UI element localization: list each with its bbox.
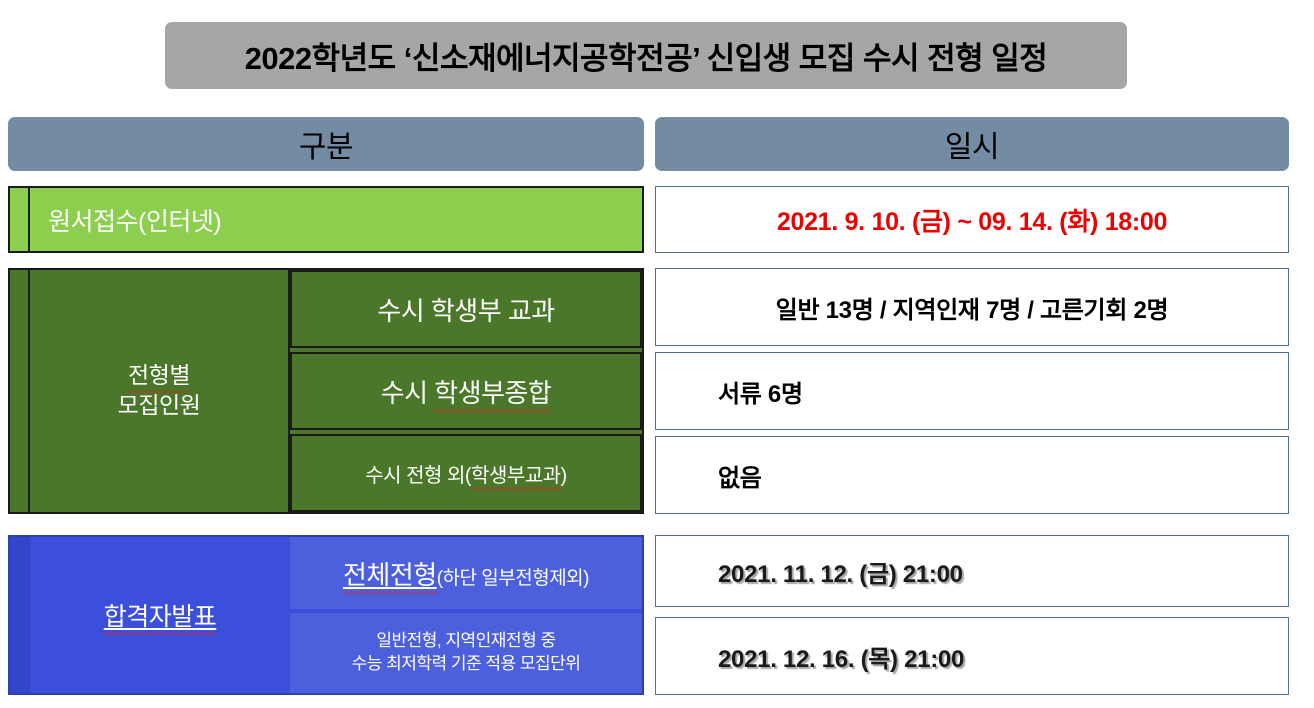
subrow-label-susi-jonghap-text: 수시 수시 학생부종합학생부종합 <box>381 373 552 410</box>
subrow-label-all-types: 전체전형(하단 일부전형제외) <box>290 537 642 609</box>
row-label-quota-line1: 전형별 <box>128 361 190 391</box>
value-quota-gyogwa-text: 일반 13명 / 지역인재 7명 / 고른기회 2명 <box>776 290 1169 325</box>
table-row-quota: 전형별 모집인원 수시 학생부 교과 수시 수시 학생부종합학생부종합 수시 전… <box>8 268 644 514</box>
row-label-quota-line2: 모집인원 <box>118 392 201 418</box>
value-announcement-partial-text: 2021. 12. 16. (목) 21:00 <box>718 639 964 674</box>
value-quota-gyogwa: 일반 13명 / 지역인재 7명 / 고른기회 2명 <box>655 268 1289 346</box>
row-label-quota: 전형별 모집인원 <box>30 270 290 512</box>
subrow-label-susi-gyogwa-text: 수시 학생부 교과 <box>377 291 554 328</box>
value-announcement-all-text: 2021. 11. 12. (금) 21:00 <box>718 554 963 589</box>
column-header-datetime-label: 일시 <box>945 122 999 166</box>
column-header-category: 구분 <box>8 117 644 171</box>
subrow-label-susi-oe: 수시 전형 외(학생부교과) <box>290 434 642 512</box>
row-accent-strip <box>10 537 30 693</box>
value-quota-oe: 없음 <box>655 436 1289 514</box>
row-accent-strip <box>10 188 30 251</box>
announcement-subrow-group: 전체전형(하단 일부전형제외) 일반전형, 지역인재전형 중 수능 최저학력 기… <box>290 537 642 693</box>
row-label-announcement: 합격자발표 <box>30 537 290 693</box>
subrow-label-partial-types: 일반전형, 지역인재전형 중 수능 최저학력 기준 적용 모집단위 <box>290 613 642 693</box>
value-quota-jonghap: 서류 6명 <box>655 352 1289 430</box>
subrow-oe-marked: 학생부교과 <box>471 459 561 488</box>
subrow-label-susi-gyogwa: 수시 학생부 교과 <box>290 270 642 348</box>
column-header-category-label: 구분 <box>299 122 353 166</box>
table-row-announcement: 합격자발표 전체전형(하단 일부전형제외) 일반전형, 지역인재전형 중 수능 … <box>8 535 644 695</box>
title-banner: 2022학년도 ‘신소재에너지공학전공’ 신입생 모집 수시 전형 일정 <box>165 22 1127 89</box>
subrow-all-types-paren: (하단 일부전형제외) <box>437 568 589 589</box>
quota-subrow-group: 수시 학생부 교과 수시 수시 학생부종합학생부종합 수시 전형 외(학생부교과… <box>290 270 642 512</box>
page-title: 2022학년도 ‘신소재에너지공학전공’ 신입생 모집 수시 전형 일정 <box>245 33 1048 78</box>
column-header-datetime: 일시 <box>655 117 1289 171</box>
subrow-label-susi-oe-text: 수시 전형 외(학생부교과) <box>365 459 566 488</box>
subrow-all-types-main: 전체전형 <box>343 555 437 592</box>
row-accent-strip <box>10 270 30 512</box>
value-announcement-partial: 2021. 12. 16. (목) 21:00 <box>655 617 1289 695</box>
subrow-partial-line1: 일반전형, 지역인재전형 중 <box>376 631 555 650</box>
value-quota-jonghap-text: 서류 6명 <box>718 374 803 409</box>
value-quota-oe-text: 없음 <box>718 458 762 493</box>
row-label-application: 원서접수(인터넷) <box>30 188 642 251</box>
subrow-label-susi-jonghap: 수시 수시 학생부종합학생부종합 <box>290 352 642 430</box>
subrow-partial-line2: 수능 최저학력 기준 적용 모집단위 <box>352 654 581 673</box>
subrow-jonghap-marked: 학생부종합 <box>434 373 551 410</box>
value-application-period: 2021. 9. 10. (금) ~ 09. 14. (화) 18:00 <box>655 186 1289 253</box>
value-application-period-text: 2021. 9. 10. (금) ~ 09. 14. (화) 18:00 <box>777 202 1167 238</box>
value-announcement-all: 2021. 11. 12. (금) 21:00 <box>655 535 1289 607</box>
table-row-application: 원서접수(인터넷) <box>8 186 644 253</box>
row-label-announcement-text: 합격자발표 <box>104 597 217 633</box>
